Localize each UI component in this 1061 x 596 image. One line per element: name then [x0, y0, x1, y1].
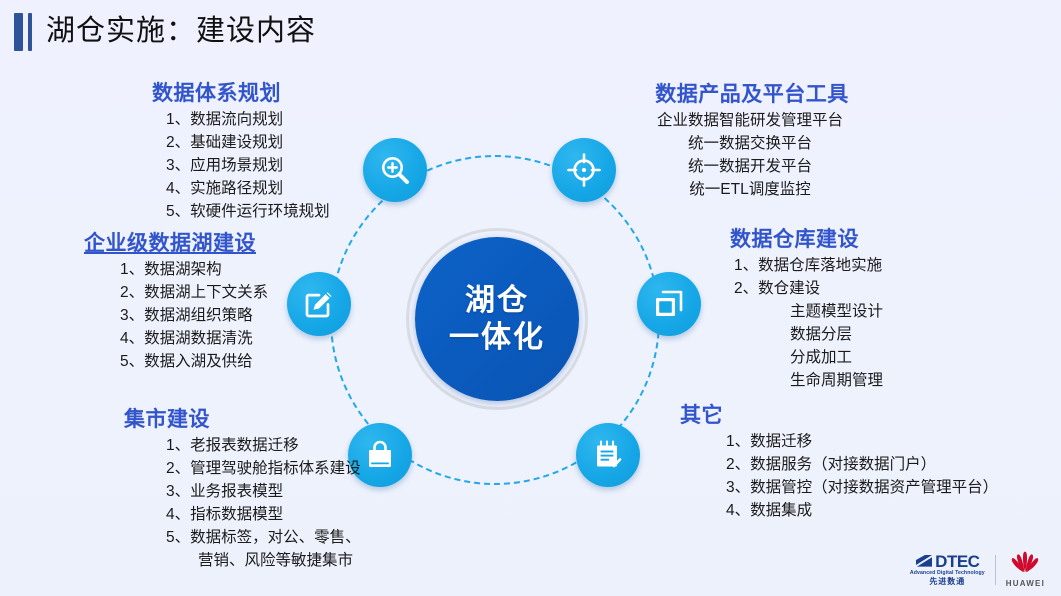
list-item-continuation: 营销、风险等敏捷集市	[108, 550, 418, 573]
block-data-mart: 集市建设 1、老报表数据迁移 2、管理驾驶舱指标体系建设 3、业务报表模型 4、…	[108, 408, 418, 573]
node-other[interactable]	[576, 423, 640, 487]
list-item: 3、业务报表模型	[108, 481, 418, 504]
block-heading: 企业级数据湖建设	[62, 232, 362, 256]
list-item: 1、数据仓库落地实施	[700, 255, 1020, 278]
list-subitem: 数据分层	[700, 324, 1020, 347]
dtec-logo: DTEC Advanced Digital Technology 先进数通	[910, 553, 985, 587]
footer-logos: DTEC Advanced Digital Technology 先进数通 H	[910, 551, 1045, 588]
huawei-wordmark: HUAWEI	[1006, 580, 1045, 588]
block-data-product-platform-tools: 数据产品及平台工具 企业数据智能研发管理平台 统一数据交换平台 统一数据开发平台…	[600, 83, 900, 202]
block-heading: 数据体系规划	[108, 82, 408, 106]
list-item: 1、数据流向规划	[108, 109, 408, 132]
block-item-list: 1、数据流向规划 2、基础建设规划 3、应用场景规划 4、实施路径规划 5、软硬…	[108, 109, 408, 224]
list-item: 统一ETL调度监控	[600, 179, 900, 202]
block-heading: 集市建设	[108, 408, 418, 432]
block-other: 其它 1、数据迁移 2、数据服务（对接数据门户） 3、数据管控（对接数据资产管理…	[668, 404, 1008, 523]
block-item-list: 1、老报表数据迁移 2、管理驾驶舱指标体系建设 3、业务报表模型 4、指标数据模…	[108, 435, 418, 573]
center-hub: 湖仓 一体化	[415, 237, 579, 401]
list-subitem: 主题模型设计	[700, 301, 1020, 324]
block-enterprise-data-lake: 企业级数据湖建设 1、数据湖架构 2、数据湖上下文关系 3、数据湖组织策略 4、…	[62, 232, 362, 374]
crosshair-icon	[567, 153, 601, 187]
list-item: 4、指标数据模型	[108, 504, 418, 527]
list-item: 2、管理驾驶舱指标体系建设	[108, 458, 418, 481]
list-item: 统一数据开发平台	[600, 156, 900, 179]
block-item-list: 企业数据智能研发管理平台 统一数据交换平台 统一数据开发平台 统一ETL调度监控	[600, 110, 900, 202]
dtec-logo-top: DTEC	[915, 553, 979, 570]
list-item: 5、软硬件运行环境规划	[108, 201, 408, 224]
list-subitem: 生命周期管理	[700, 370, 1020, 393]
list-item: 2、数据服务（对接数据门户）	[668, 454, 1008, 477]
block-data-warehouse: 数据仓库建设 1、数据仓库落地实施 2、数仓建设 主题模型设计 数据分层 分成加…	[700, 228, 1020, 393]
hub-line-1: 湖仓	[465, 282, 529, 320]
block-heading: 数据产品及平台工具	[600, 83, 900, 107]
list-item: 1、数据湖架构	[62, 259, 362, 282]
checklist-icon	[591, 438, 625, 472]
list-item: 企业数据智能研发管理平台	[600, 110, 900, 133]
list-item: 2、数据湖上下文关系	[62, 282, 362, 305]
dtec-arrow-icon	[915, 554, 934, 568]
list-item: 2、数仓建设	[700, 278, 1020, 301]
list-item: 5、数据标签，对公、零售、	[108, 527, 418, 550]
list-item: 3、应用场景规划	[108, 155, 408, 178]
list-item: 3、数据管控（对接数据资产管理平台）	[668, 477, 1008, 500]
list-subitem: 分成加工	[700, 347, 1020, 370]
list-item: 1、老报表数据迁移	[108, 435, 418, 458]
block-item-list: 1、数据湖架构 2、数据湖上下文关系 3、数据湖组织策略 4、数据湖数据清洗 5…	[62, 259, 362, 374]
block-data-system-planning: 数据体系规划 1、数据流向规划 2、基础建设规划 3、应用场景规划 4、实施路径…	[108, 82, 408, 224]
list-item: 4、数据集成	[668, 500, 1008, 523]
node-data-warehouse[interactable]	[637, 272, 701, 336]
dtec-tagline: Advanced Digital Technology	[910, 571, 985, 576]
list-item: 4、实施路径规划	[108, 178, 408, 201]
slide-root: 湖仓实施：建设内容 湖仓 一体化	[0, 0, 1061, 596]
huawei-logo: HUAWEI	[1006, 551, 1045, 588]
dtec-chinese-name: 先进数通	[929, 578, 965, 586]
list-item: 3、数据湖组织策略	[62, 305, 362, 328]
list-item: 1、数据迁移	[668, 431, 1008, 454]
block-item-list: 1、数据迁移 2、数据服务（对接数据门户） 3、数据管控（对接数据资产管理平台）…	[668, 431, 1008, 523]
logo-divider	[995, 555, 996, 585]
copy-layers-icon	[652, 287, 686, 321]
huawei-flower-icon	[1008, 551, 1042, 577]
block-item-list: 1、数据仓库落地实施 2、数仓建设 主题模型设计 数据分层 分成加工 生命周期管…	[700, 255, 1020, 393]
list-item: 统一数据交换平台	[600, 133, 900, 156]
list-item: 4、数据湖数据清洗	[62, 328, 362, 351]
block-heading: 数据仓库建设	[700, 228, 1020, 252]
dtec-wordmark: DTEC	[935, 553, 979, 570]
hub-line-2: 一体化	[449, 319, 545, 357]
block-heading: 其它	[668, 404, 1008, 428]
list-item: 2、基础建设规划	[108, 132, 408, 155]
list-item: 5、数据入湖及供给	[62, 351, 362, 374]
